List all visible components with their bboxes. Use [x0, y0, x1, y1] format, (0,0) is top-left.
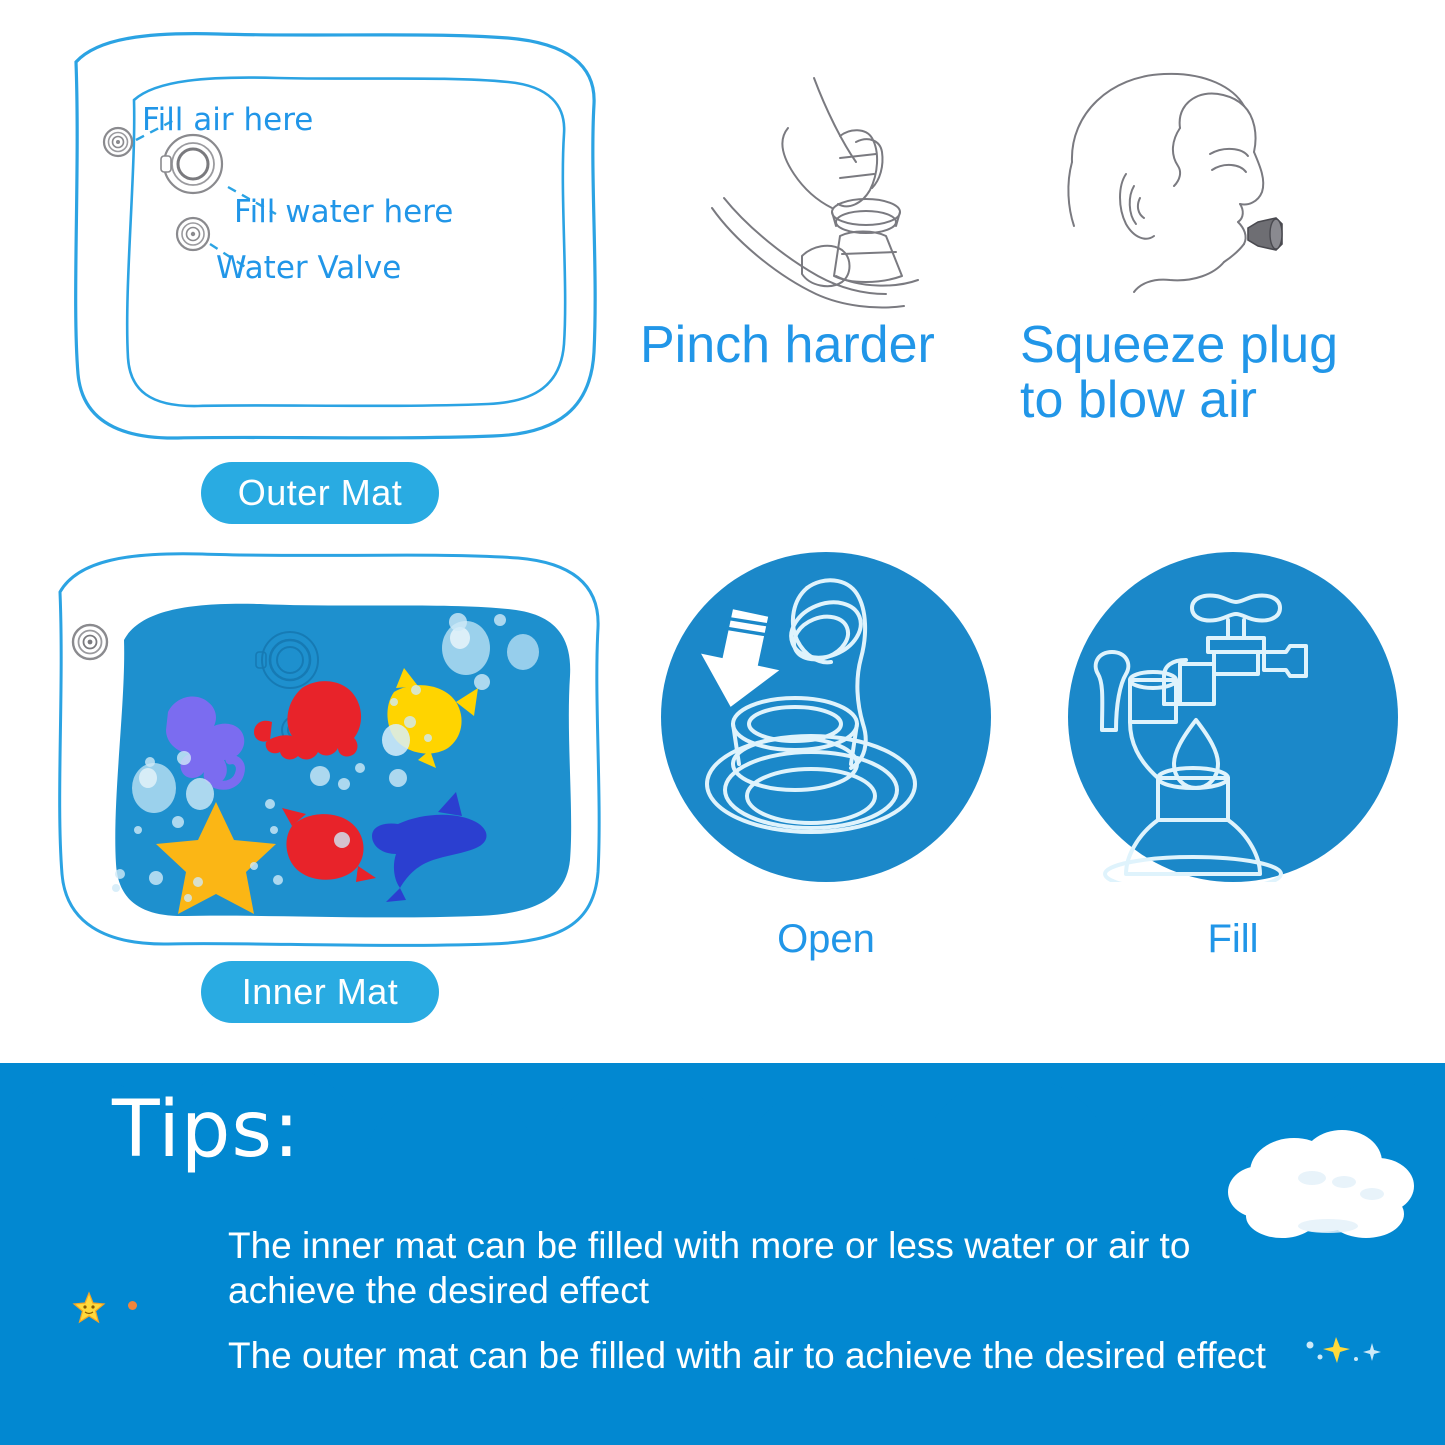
inner-mat-badge: Inner Mat — [201, 961, 439, 1023]
pinch-harder-caption: Pinch harder — [640, 318, 980, 373]
open-step-circle — [661, 552, 991, 882]
outer-mat-border — [76, 34, 595, 438]
open-valve-icon — [661, 552, 991, 882]
fill-step-caption: Fill — [1068, 918, 1398, 960]
fill-step-circle — [1068, 552, 1398, 882]
pinch-valve-sketch-icon — [690, 70, 1020, 320]
faucet-fill-icon — [1068, 552, 1398, 882]
outer-mat-badge-label: Outer Mat — [238, 472, 403, 514]
callout-water-valve: Water Valve — [216, 250, 401, 286]
inner-mat-valve-icon — [73, 625, 107, 659]
tip-line-2: The outer mat can be filled with air to … — [228, 1333, 1288, 1378]
outer-mat-outline-svg — [38, 22, 618, 452]
dot-icon — [128, 1301, 137, 1310]
sparkle-star-icon — [1296, 1331, 1416, 1371]
water-valve-icon — [177, 218, 209, 250]
mouth-plug-icon — [1248, 218, 1282, 250]
outer-mat-badge: Outer Mat — [201, 462, 439, 524]
open-step-caption: Open — [661, 918, 991, 960]
tips-section: Tips: The inner mat can be filled with m… — [0, 1063, 1445, 1445]
outer-mat-diagram: Fill air here Fill water here Water Valv… — [38, 22, 618, 452]
callout-fill-water: Fill water here — [234, 194, 453, 230]
tips-title: Tips: — [112, 1085, 300, 1175]
squeeze-plug-step — [1048, 52, 1358, 322]
smiling-star-icon — [72, 1291, 106, 1325]
water-fill-valve-icon — [161, 135, 222, 193]
inner-mat-badge-label: Inner Mat — [242, 971, 399, 1013]
head-blowing-sketch-icon — [1048, 52, 1358, 322]
inner-mat-svg — [38, 530, 618, 960]
tips-content: Tips: The inner mat can be filled with m… — [0, 1063, 1445, 1445]
pinch-harder-step — [690, 70, 1020, 320]
tip-line-1: The inner mat can be filled with more or… — [228, 1223, 1288, 1313]
callout-fill-air: Fill air here — [142, 102, 313, 138]
infographic-page: Fill air here Fill water here Water Valv… — [0, 0, 1445, 1445]
squeeze-plug-caption: Squeeze plug to blow air — [1020, 318, 1390, 427]
inner-mat-diagram — [38, 530, 618, 960]
air-valve-icon — [104, 128, 132, 156]
